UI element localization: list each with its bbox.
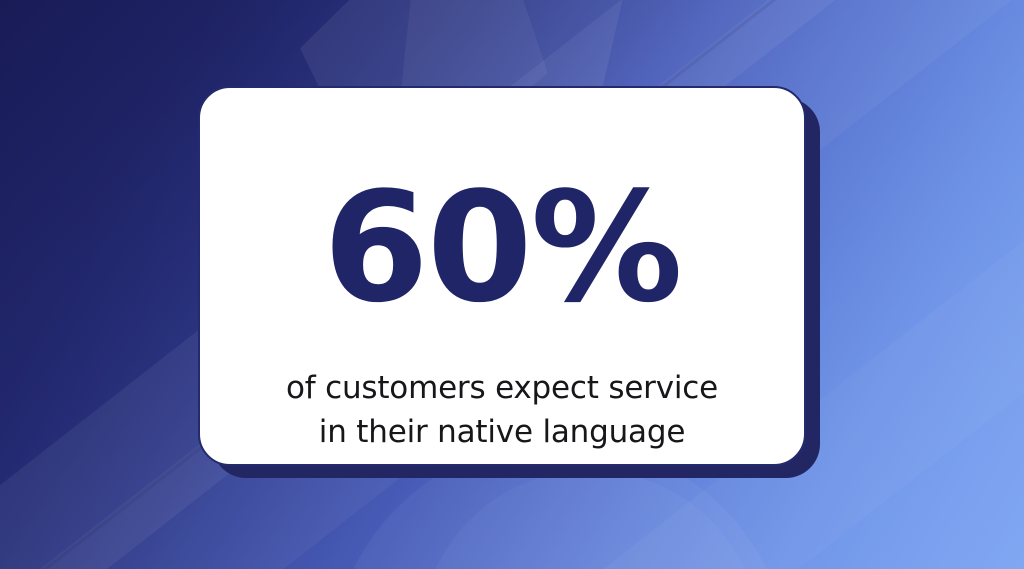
stat-caption-line-1: of customers expect service: [286, 366, 718, 410]
stat-card: 60% of customers expect service in their…: [198, 86, 806, 466]
stat-caption: of customers expect service in their nat…: [258, 366, 746, 454]
stat-caption-line-2: in their native language: [286, 410, 718, 454]
stat-value: 60%: [323, 172, 681, 324]
stat-card-wrapper: 60% of customers expect service in their…: [198, 86, 806, 466]
stat-card-slide: 60% of customers expect service in their…: [0, 0, 1024, 569]
